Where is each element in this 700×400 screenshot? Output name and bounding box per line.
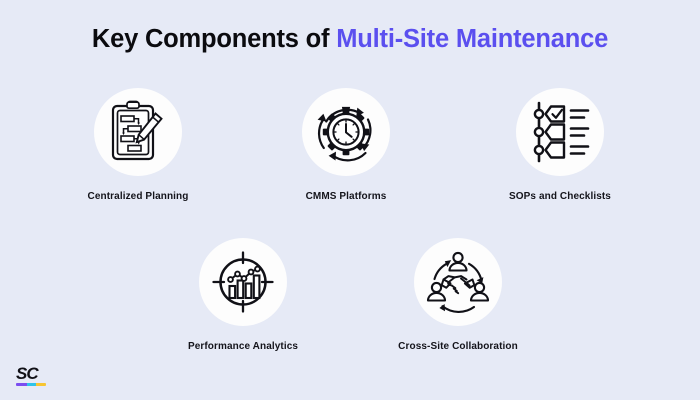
icon-circle-cmms-platforms	[302, 88, 390, 176]
brand-logo[interactable]: SC	[16, 365, 50, 387]
icon-circle-sops-and-checklists	[516, 88, 604, 176]
infographic-canvas: Key Components of Multi-Site Maintenance	[0, 0, 700, 400]
component-card-centralized-planning: Centralized Planning	[68, 88, 208, 203]
handshake-people-cycle-icon	[426, 250, 490, 314]
icon-circle-cross-site-collaboration	[414, 238, 502, 326]
gear-clock-cycle-icon	[313, 99, 379, 165]
page-title-main: Key Components of	[92, 25, 336, 53]
icon-circle-performance-analytics	[199, 238, 287, 326]
brand-logo-bar	[16, 383, 46, 387]
component-card-sops-and-checklists: SOPs and Checklists	[490, 88, 630, 203]
component-card-performance-analytics: Performance Analytics	[173, 238, 313, 353]
component-label: CMMS Platforms	[276, 190, 416, 203]
clipboard-flowchart-pencil-icon	[108, 100, 168, 164]
brand-logo-text: SC	[16, 365, 50, 382]
component-label: Cross-Site Collaboration	[388, 340, 528, 353]
component-label: SOPs and Checklists	[490, 190, 630, 203]
brand-logo-bar-segment-1	[16, 383, 27, 387]
page-title-accent: Multi-Site Maintenance	[336, 25, 608, 53]
target-bar-chart-icon	[211, 250, 275, 314]
page-title: Key Components of Multi-Site Maintenance	[0, 22, 700, 56]
brand-logo-bar-segment-3	[36, 383, 46, 387]
component-label: Centralized Planning	[68, 190, 208, 203]
component-card-cross-site-collaboration: Cross-Site Collaboration	[388, 238, 528, 353]
brand-logo-bar-segment-2	[27, 383, 36, 387]
icon-circle-centralized-planning	[94, 88, 182, 176]
component-label: Performance Analytics	[173, 340, 313, 353]
component-card-cmms-platforms: CMMS Platforms	[276, 88, 416, 203]
checklist-timeline-icon	[530, 101, 590, 163]
